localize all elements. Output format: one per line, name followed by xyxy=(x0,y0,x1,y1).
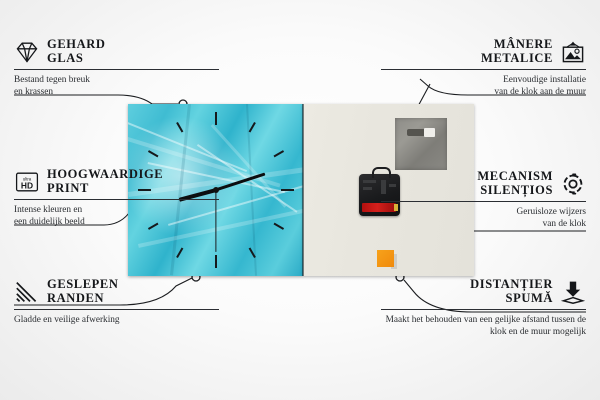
ultra-hd-icon: ultra HD xyxy=(14,170,40,194)
feature-tempered-glass: GEHARD GLAS Bestand tegen breuk en krass… xyxy=(14,38,219,99)
feature-metal-hooks: MÂNERE METALICE Eenvoudige installatie v… xyxy=(381,38,586,99)
feature-title-line2: METALICE xyxy=(481,52,553,66)
feature-title-line2: PRINT xyxy=(47,182,163,196)
feature-title-line2: SILENȚIOS xyxy=(480,184,553,198)
divider xyxy=(14,69,219,70)
divider xyxy=(14,309,219,310)
feature-description: Gladde en veilige afwerking xyxy=(14,314,219,326)
divider xyxy=(14,199,219,200)
feature-description: Geruisloze wijzers van de klok xyxy=(381,206,586,231)
feature-title-line1: MÂNERE xyxy=(494,38,553,52)
metal-hanger-plate xyxy=(395,118,447,170)
diamond-icon xyxy=(14,40,40,64)
infographic-canvas: GEHARD GLAS Bestand tegen breuk en krass… xyxy=(0,0,600,400)
feature-title-line1: GEHARD xyxy=(47,38,105,52)
divider xyxy=(381,201,586,202)
divider xyxy=(381,309,586,310)
feature-title-line2: GLAS xyxy=(47,52,105,66)
feature-ground-edges: GESLEPEN RANDEN Gladde en veilige afwerk… xyxy=(14,278,219,326)
feature-description: Eenvoudige installatie van de klok aan d… xyxy=(381,74,586,99)
hanger-keyhole-slot xyxy=(407,129,435,136)
svg-text:HD: HD xyxy=(21,180,33,190)
down-arrow-stack-icon xyxy=(560,280,586,304)
feature-foam-spacer: DISTANȚIER SPUMĂ Maakt het behouden van … xyxy=(381,278,586,339)
feature-title-line1: MECANISM xyxy=(477,170,553,184)
divider xyxy=(381,69,586,70)
feature-title-line1: DISTANȚIER xyxy=(470,278,553,292)
feature-title-line2: SPUMĂ xyxy=(506,292,553,306)
feature-title-line1: HOOGWAARDIGE xyxy=(47,168,163,182)
panel-divider xyxy=(302,104,304,276)
feature-title-line2: RANDEN xyxy=(47,292,119,306)
bevelled-edge-icon xyxy=(14,280,40,304)
feature-description: Bestand tegen breuk en krassen xyxy=(14,74,219,99)
feature-description: Intense kleuren en een duidelijk beeld xyxy=(14,204,219,229)
feature-description: Maakt het behouden van een gelijke afsta… xyxy=(371,314,586,339)
feature-title-line1: GESLEPEN xyxy=(47,278,119,292)
foam-spacer-piece xyxy=(377,250,394,267)
feature-high-quality-print: ultra HD HOOGWAARDIGE PRINT Intense kleu… xyxy=(14,168,219,229)
feature-silent-mechanism: MECANISM SILENȚIOS Geruisloze wijzers va… xyxy=(381,170,586,231)
gear-icon xyxy=(560,172,586,196)
hanging-picture-icon xyxy=(560,40,586,64)
